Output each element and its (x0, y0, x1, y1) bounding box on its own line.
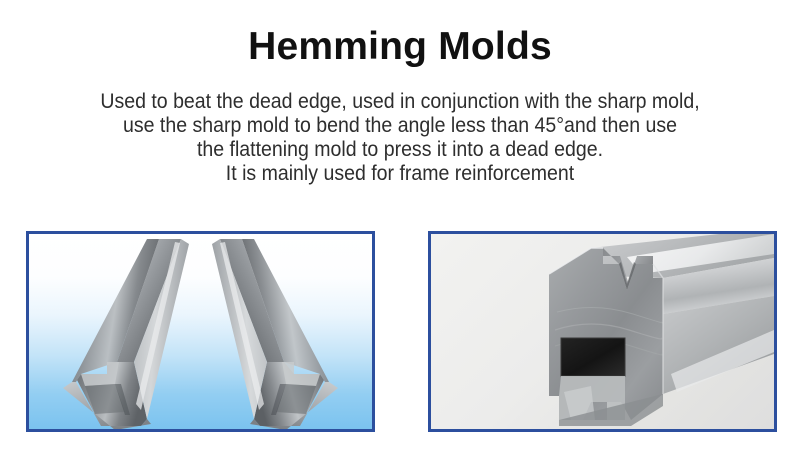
panel-left-background (29, 234, 372, 429)
mold-cavity (561, 338, 625, 376)
description-block: Used to beat the dead edge, used in conj… (0, 90, 800, 186)
panel-right-background (431, 234, 774, 429)
hemming-tool-pair-illustration (29, 234, 372, 429)
product-info-graphic: Hemming Molds Used to beat the dead edge… (0, 0, 800, 454)
description-line-4: It is mainly used for frame reinforcemen… (28, 162, 772, 186)
description-line-1: Used to beat the dead edge, used in conj… (28, 90, 772, 114)
tool-right (212, 239, 338, 429)
product-image-panel-left (26, 231, 375, 432)
hemming-mold-closeup-illustration (431, 234, 774, 429)
tool-left (63, 239, 189, 429)
description-line-2: use the sharp mold to bend the angle les… (28, 114, 772, 138)
product-image-panel-right (428, 231, 777, 432)
page-title: Hemming Molds (0, 24, 800, 70)
description-line-3: the flattening mold to press it into a d… (28, 138, 772, 162)
